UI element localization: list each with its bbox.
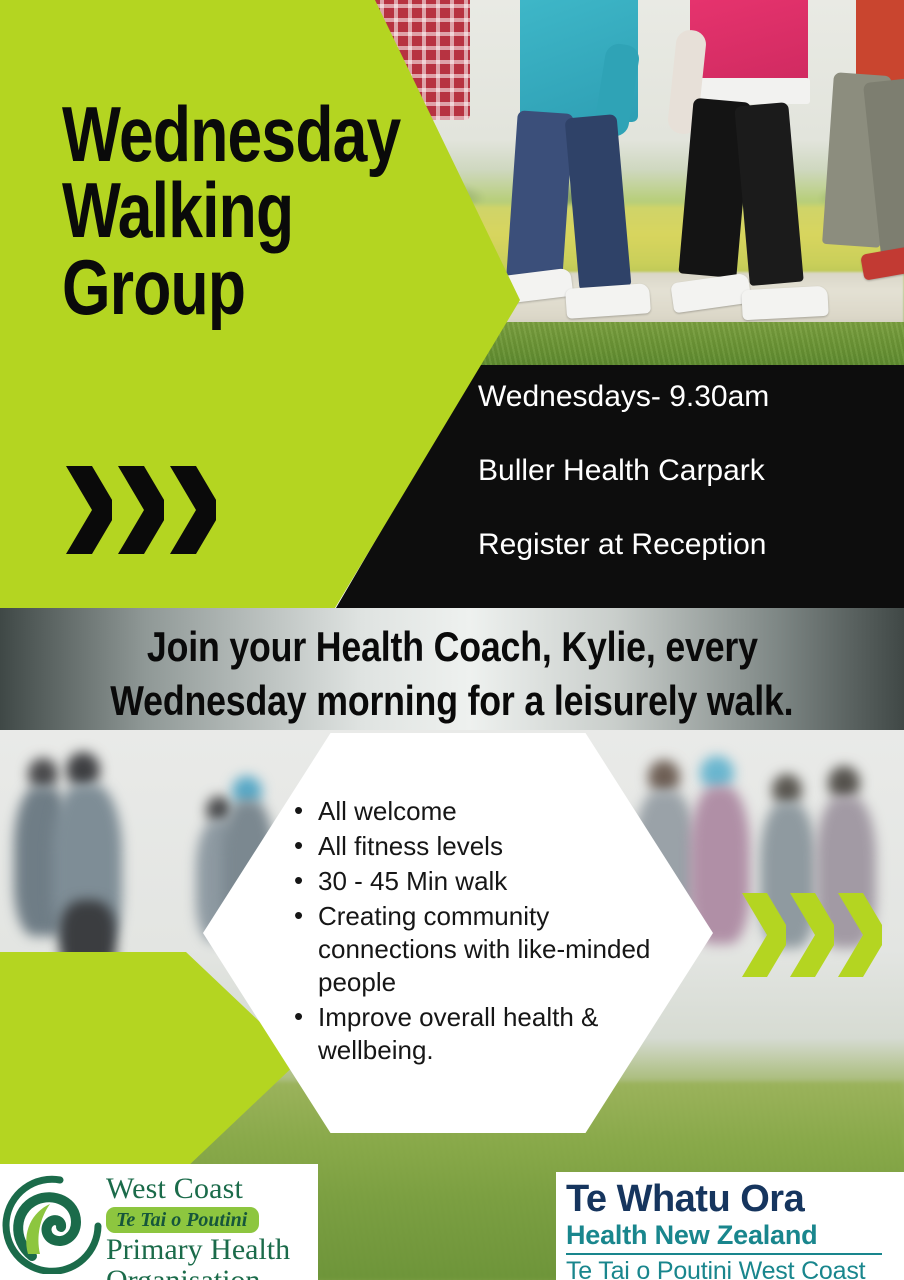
- tagline: Join your Health Coach, Kylie, every Wed…: [0, 620, 904, 728]
- list-item: All fitness levels: [292, 830, 672, 863]
- event-detail-registration: Register at Reception: [478, 530, 898, 560]
- chevron-right-icon: [66, 466, 112, 554]
- walker-leg: [734, 102, 803, 286]
- pho-wordmark: West Coast Te Tai o Poutini Primary Heal…: [106, 1170, 290, 1280]
- list-item: All welcome: [292, 795, 672, 828]
- chevron-right-icon: [742, 893, 786, 977]
- walker-shoe: [670, 273, 751, 314]
- twa-line-region: Te Tai o Poutini West Coast: [566, 1258, 904, 1280]
- list-item: 30 - 45 Min walk: [292, 865, 672, 898]
- list-item: Improve overall health & wellbeing.: [292, 1001, 672, 1067]
- page-title: Wednesday Walking Group: [62, 96, 350, 325]
- walker-red-top: [856, 0, 904, 84]
- walker-leg: [565, 114, 632, 290]
- walker-leg: [506, 110, 574, 281]
- walker-pink-top: [690, 0, 808, 86]
- chevron-right-icon: [118, 466, 164, 554]
- benefits-list: All welcome All fitness levels 30 - 45 M…: [292, 795, 672, 1069]
- chevron-right-icon: [170, 466, 216, 554]
- twa-line-health-new-zealand: Health New Zealand: [566, 1220, 904, 1250]
- pho-line-west-coast: West Coast: [106, 1174, 290, 1204]
- event-detail-time: Wednesdays- 9.30am: [478, 382, 898, 412]
- te-whatu-ora-logo: Te Whatu Ora Health New Zealand Te Tai o…: [556, 1172, 904, 1280]
- list-item: Creating community connections with like…: [292, 900, 672, 999]
- tagline-line-1: Join your Health Coach, Kylie, every: [147, 620, 758, 674]
- twa-divider: [566, 1253, 882, 1255]
- pho-maori-name: Te Tai o Poutini: [106, 1207, 259, 1233]
- walker-shoe: [741, 286, 828, 320]
- pho-line-primary-health: Primary Health: [106, 1235, 290, 1266]
- walker-shoe: [860, 245, 904, 280]
- chevron-right-icon: [838, 893, 882, 977]
- tagline-line-2: Wednesday morning for a leisurely walk.: [110, 674, 793, 728]
- west-coast-pho-logo: West Coast Te Tai o Poutini Primary Heal…: [0, 1164, 318, 1280]
- koru-spiral-icon: [2, 1170, 106, 1274]
- poster-canvas: Wednesday Walking Group Wednesdays- 9.30…: [0, 0, 904, 1280]
- chevron-right-icon: [790, 893, 834, 977]
- chevron-arrows-green: [742, 893, 882, 977]
- chevron-arrows-black: [66, 466, 216, 554]
- walker-shoe: [565, 283, 651, 319]
- twa-line-te-whatu-ora: Te Whatu Ora: [566, 1180, 904, 1220]
- event-detail-location: Buller Health Carpark: [478, 456, 898, 486]
- event-details-list: Wednesdays- 9.30am Buller Health Carpark…: [478, 382, 898, 560]
- pho-line-organisation: Organisation: [106, 1266, 290, 1280]
